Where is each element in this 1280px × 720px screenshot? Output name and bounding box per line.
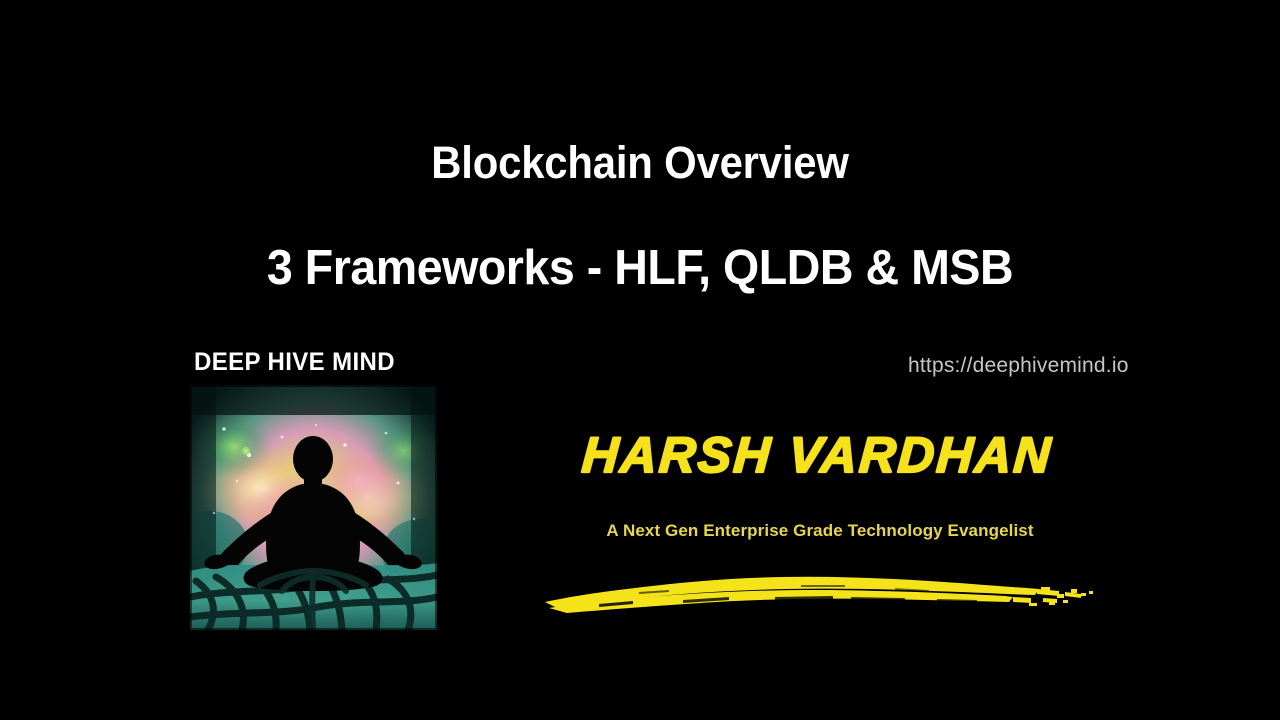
brush-underline [543,558,1099,614]
cosmic-meditation-artwork [190,385,437,630]
speaker-name-lettering: HARSH VARDHAN [540,418,1100,490]
speaker-name: HARSH VARDHAN [540,418,1100,490]
speaker-name-text: HARSH VARDHAN [580,427,1054,483]
cosmic-meditation-image [190,385,437,630]
website-url[interactable]: https://deephivemind.io [908,353,1129,379]
speaker-tagline: A Next Gen Enterprise Grade Technology E… [540,519,1100,543]
slide-title-secondary: 3 Frameworks - HLF, QLDB & MSB [32,237,1248,299]
yellow-brush-stroke [543,558,1099,614]
presentation-slide: Blockchain Overview 3 Frameworks - HLF, … [0,0,1280,720]
slide-title-block: Blockchain Overview 3 Frameworks - HLF, … [0,132,1280,299]
brand-logo: DEEP HIVE MIND [190,338,440,630]
slide-title-primary: Blockchain Overview [45,132,1235,194]
brand-wordmark: DEEP HIVE MIND [194,347,395,377]
